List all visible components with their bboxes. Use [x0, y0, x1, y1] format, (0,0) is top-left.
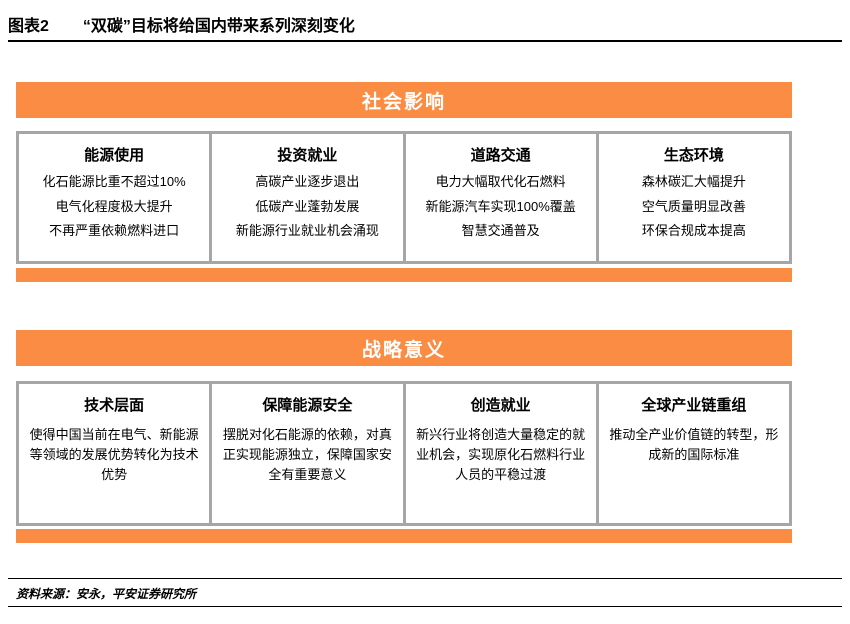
card-title: 道路交通: [471, 144, 531, 165]
card-line: 森林碳汇大幅提升: [642, 175, 746, 189]
card-paragraph: 推动全产业价值链的转型，形成新的国际标准: [605, 425, 783, 465]
card-title: 保障能源安全: [262, 394, 352, 415]
section-underbar-social-impact: [16, 268, 792, 282]
card-paragraph: 摆脱对化石能源的依赖，对真正实现能源独立，保障国家安全有重要意义: [218, 425, 396, 485]
card-line: 化石能源比重不超过10%: [43, 175, 186, 189]
card-title: 全球产业链重组: [641, 394, 746, 415]
source-note: 资料来源：安永，平安证券研究所: [16, 585, 196, 602]
section-grid-strategic-significance: 技术层面 使得中国当前在电气、新能源等领域的发展优势转化为技术优势 保障能源安全…: [16, 381, 792, 526]
figure-label: 图表2: [8, 12, 49, 36]
footer-divider-bottom: [8, 606, 842, 607]
card-technology-level: 技术层面 使得中国当前在电气、新能源等领域的发展优势转化为技术优势: [19, 384, 212, 523]
section-banner-social-impact: 社会影响: [16, 82, 792, 118]
card-line: 电力大幅取代化石燃料: [436, 175, 566, 189]
title-divider: [8, 40, 842, 42]
section-grid-social-impact: 能源使用 化石能源比重不超过10% 电气化程度极大提升 不再严重依赖燃料进口 投…: [16, 131, 792, 264]
card-title: 能源使用: [84, 144, 144, 165]
footer-divider-top: [8, 578, 842, 579]
card-line: 新能源汽车实现100%覆盖: [426, 200, 576, 214]
card-paragraph: 新兴行业将创造大量稳定的就业机会，实现原化石燃料行业人员的平稳过渡: [412, 425, 590, 485]
card-energy-security: 保障能源安全 摆脱对化石能源的依赖，对真正实现能源独立，保障国家安全有重要意义: [212, 384, 405, 523]
card-road-transport: 道路交通 电力大幅取代化石燃料 新能源汽车实现100%覆盖 智慧交通普及: [406, 134, 599, 261]
card-investment-employment: 投资就业 高碳产业逐步退出 低碳产业蓬勃发展 新能源行业就业机会涌现: [212, 134, 405, 261]
card-title: 技术层面: [84, 394, 144, 415]
card-line: 智慧交通普及: [462, 224, 540, 238]
card-ecological-environment: 生态环境 森林碳汇大幅提升 空气质量明显改善 环保合规成本提高: [599, 134, 789, 261]
card-line: 高碳产业逐步退出: [255, 175, 359, 189]
card-line: 环保合规成本提高: [642, 224, 746, 238]
section-underbar-strategic-significance: [16, 529, 792, 543]
card-line: 空气质量明显改善: [642, 200, 746, 214]
card-line: 电气化程度极大提升: [56, 200, 173, 214]
card-title: 创造就业: [471, 394, 531, 415]
section-banner-strategic-significance: 战略意义: [16, 330, 792, 366]
figure-title-text: “双碳”目标将给国内带来系列深刻变化: [83, 12, 355, 36]
page-title: 图表2 “双碳”目标将给国内带来系列深刻变化: [8, 12, 842, 38]
card-paragraph: 使得中国当前在电气、新能源等领域的发展优势转化为技术优势: [25, 425, 203, 485]
card-job-creation: 创造就业 新兴行业将创造大量稳定的就业机会，实现原化石燃料行业人员的平稳过渡: [406, 384, 599, 523]
card-line: 不再严重依赖燃料进口: [49, 224, 179, 238]
card-energy-use: 能源使用 化石能源比重不超过10% 电气化程度极大提升 不再严重依赖燃料进口: [19, 134, 212, 261]
card-title: 生态环境: [664, 144, 724, 165]
card-global-supply-chain-restructuring: 全球产业链重组 推动全产业价值链的转型，形成新的国际标准: [599, 384, 789, 523]
card-title: 投资就业: [277, 144, 337, 165]
card-line: 低碳产业蓬勃发展: [255, 200, 359, 214]
card-line: 新能源行业就业机会涌现: [236, 224, 379, 238]
